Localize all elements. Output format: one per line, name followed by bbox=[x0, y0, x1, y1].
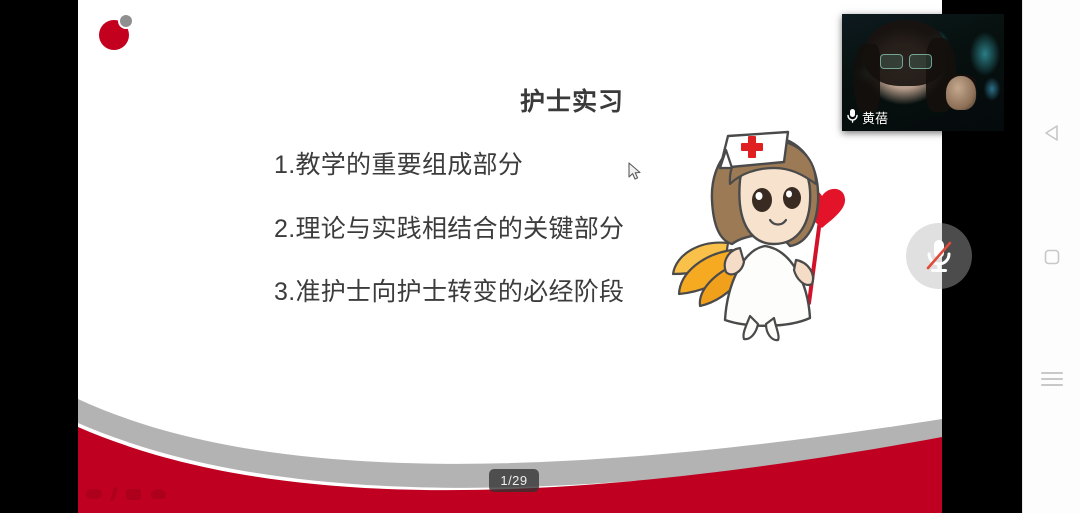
participant-name-text: 黄蓓 bbox=[862, 108, 888, 127]
participant-video-thumbnail[interactable]: 黄蓓 bbox=[842, 14, 1004, 131]
microphone-icon bbox=[846, 108, 859, 127]
slide-title-text: 护士实习 bbox=[520, 88, 624, 116]
decor-icon-1 bbox=[86, 489, 102, 499]
video-child-face bbox=[946, 76, 976, 110]
screen-root: 护士实习 1.教学的重要组成部分 2.理论与实践相结合的关键部分 3.准护士向护… bbox=[0, 0, 1080, 513]
video-person-hair-left bbox=[854, 44, 880, 114]
cartoon-nurse-angel-illustration bbox=[670, 128, 860, 343]
gray-dot-icon bbox=[120, 15, 132, 27]
video-person-glasses bbox=[880, 54, 932, 67]
decor-icon-2 bbox=[110, 487, 119, 501]
presentation-slide[interactable]: 护士实习 1.教学的重要组成部分 2.理论与实践相结合的关键部分 3.准护士向护… bbox=[78, 0, 942, 513]
home-button[interactable] bbox=[1023, 234, 1080, 280]
decor-icon-4 bbox=[151, 489, 166, 499]
mouse-cursor bbox=[628, 162, 642, 181]
recents-button[interactable] bbox=[1023, 356, 1080, 402]
right-eye bbox=[783, 187, 801, 209]
home-square-icon bbox=[1043, 248, 1061, 266]
mute-microphone-button[interactable] bbox=[906, 223, 972, 289]
decor-icon-3 bbox=[126, 489, 141, 500]
slide-logo bbox=[98, 12, 146, 60]
back-triangle-icon bbox=[1043, 124, 1061, 142]
microphone-muted-icon bbox=[923, 237, 955, 275]
nurse-cap-icon bbox=[720, 132, 788, 168]
recents-lines-icon bbox=[1041, 368, 1063, 390]
participant-name-badge: 黄蓓 bbox=[846, 108, 888, 127]
left-eye bbox=[752, 188, 772, 212]
page-indicator: 1/29 bbox=[489, 469, 539, 492]
back-button[interactable] bbox=[1023, 110, 1080, 156]
slide-footer-decoration bbox=[78, 393, 942, 513]
slide-title: 护士实习 bbox=[78, 82, 942, 118]
footer-decor-icons bbox=[86, 485, 206, 503]
android-navigation-bar bbox=[1022, 0, 1080, 513]
